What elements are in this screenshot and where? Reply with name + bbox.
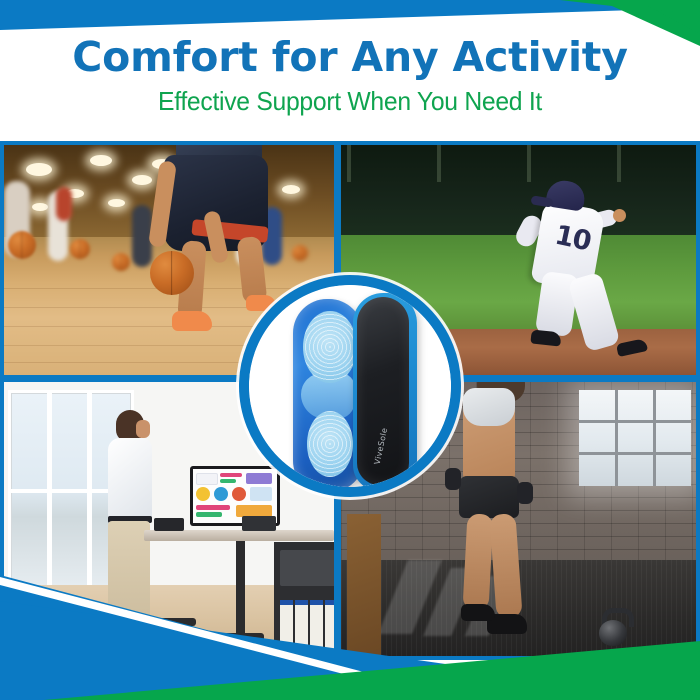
- gel-heel-pad: [303, 311, 357, 383]
- fabric-insole: ViveSole: [353, 293, 417, 487]
- monitor-dashboard: [193, 469, 277, 523]
- header-banner: Comfort for Any Activity Effective Suppo…: [0, 0, 700, 141]
- product-circle-badge[interactable]: ViveSole: [239, 275, 461, 497]
- page-title: Comfort for Any Activity: [0, 34, 700, 80]
- header-text-block: Comfort for Any Activity Effective Suppo…: [0, 34, 700, 116]
- brand-logo: ViveSole: [373, 430, 400, 467]
- page-subtitle: Effective Support When You Need It: [18, 86, 683, 116]
- banner-canvas: Comfort for Any Activity Effective Suppo…: [0, 0, 700, 700]
- gel-forefoot-pad: [307, 411, 353, 477]
